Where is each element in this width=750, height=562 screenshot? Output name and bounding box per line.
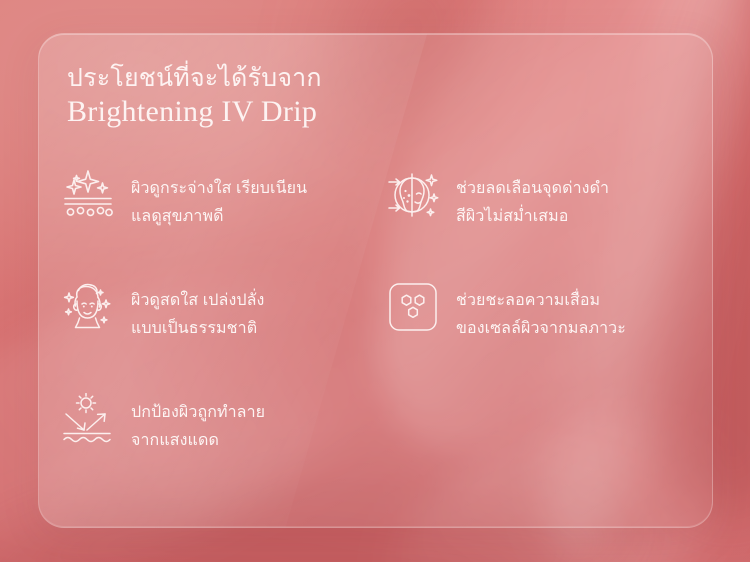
- page-title-thai: ประโยชน์ที่จะได้รับจาก: [67, 63, 322, 93]
- benefit-line-2: ของเซลล์ผิวจากมลภาวะ: [456, 315, 626, 343]
- page-title: ประโยชน์ที่จะได้รับจาก Brightening IV Dr…: [67, 63, 322, 130]
- benefit-line-1: ช่วยลดเลือนจุดด่างดำ: [456, 175, 609, 203]
- benefit-text: ปกป้องผิวถูกทำลาย จากแสงแดด: [131, 390, 265, 455]
- glowing-face-icon: [59, 278, 117, 336]
- benefits-card: ประโยชน์ที่จะได้รับจาก Brightening IV Dr…: [38, 33, 713, 528]
- benefit-item: ช่วยลดเลือนจุดด่างดำ สีผิวไม่สม่ำเสมอ: [384, 158, 699, 270]
- face-dark-spot-reduction-icon: [384, 166, 442, 224]
- benefit-text: ช่วยลดเลือนจุดด่างดำ สีผิวไม่สม่ำเสมอ: [456, 166, 609, 231]
- benefit-text: ผิวดูกระจ่างใส เรียบเนียน แลดูสุขภาพดี: [131, 166, 307, 231]
- benefit-line-2: จากแสงแดด: [131, 427, 265, 455]
- benefit-line-1: ผิวดูกระจ่างใส เรียบเนียน: [131, 175, 307, 203]
- benefit-line-2: แบบเป็นธรรมชาติ: [131, 315, 264, 343]
- sun-protection-icon: [59, 390, 117, 448]
- benefit-text: ผิวดูสดใส เปล่งปลั่ง แบบเป็นธรรมชาติ: [131, 278, 264, 343]
- benefit-item: ช่วยชะลอความเสื่อม ของเซลล์ผิวจากมลภาวะ: [384, 270, 699, 382]
- benefit-line-1: ปกป้องผิวถูกทำลาย: [131, 399, 265, 427]
- page-title-english: Brightening IV Drip: [67, 94, 322, 130]
- benefit-line-1: ผิวดูสดใส เปล่งปลั่ง: [131, 287, 264, 315]
- benefit-line-2: สีผิวไม่สม่ำเสมอ: [456, 203, 609, 231]
- benefit-line-1: ช่วยชะลอความเสื่อม: [456, 287, 626, 315]
- sparkle-smooth-skin-icon: [59, 166, 117, 224]
- benefit-line-2: แลดูสุขภาพดี: [131, 203, 307, 231]
- benefit-text: ช่วยชะลอความเสื่อม ของเซลล์ผิวจากมลภาวะ: [456, 278, 626, 343]
- benefit-item: ผิวดูสดใส เปล่งปลั่ง แบบเป็นธรรมชาติ: [59, 270, 384, 382]
- benefit-item: ปกป้องผิวถูกทำลาย จากแสงแดด: [59, 382, 384, 494]
- benefits-list: ผิวดูกระจ่างใส เรียบเนียน แลดูสุขภาพดี: [59, 158, 699, 494]
- benefit-item: ผิวดูกระจ่างใส เรียบเนียน แลดูสุขภาพดี: [59, 158, 384, 270]
- honeycomb-cell-icon: [384, 278, 442, 336]
